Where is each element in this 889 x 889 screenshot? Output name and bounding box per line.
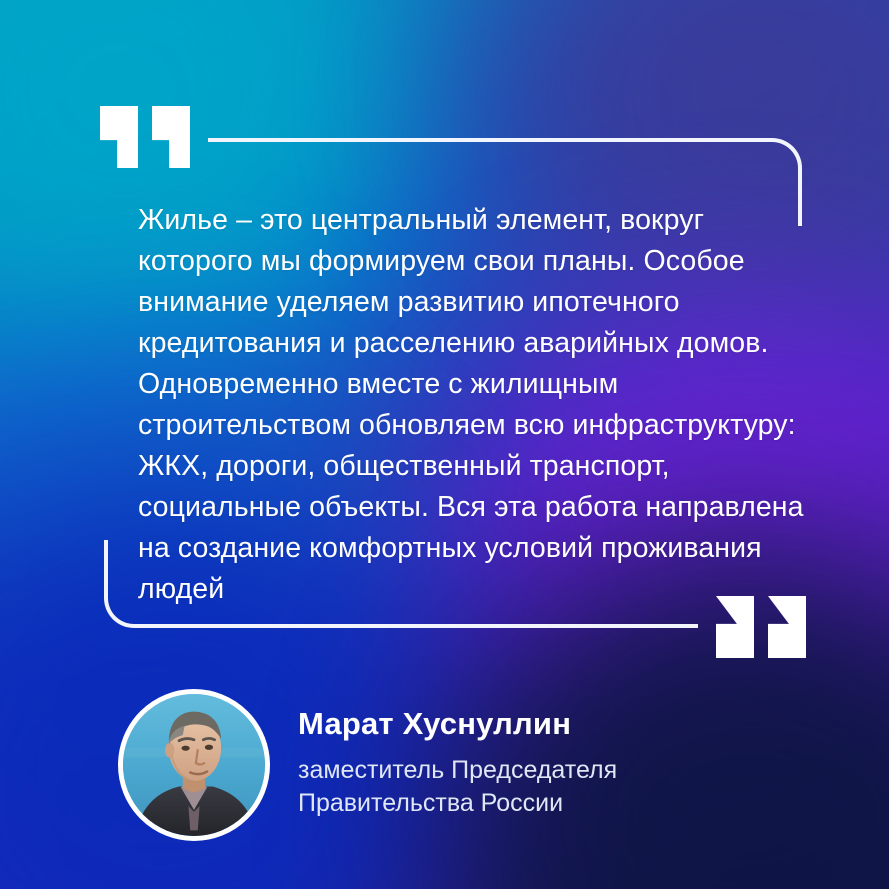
- quote-line: внимание уделяем развитию ипотечного: [138, 282, 818, 323]
- avatar: [118, 689, 270, 841]
- quote-card: Жилье – это центральный элемент, вокруг …: [0, 0, 889, 889]
- quote-line: строительством обновляем всю инфраструкт…: [138, 405, 818, 446]
- quote-line: ЖКХ, дороги, общественный транспорт,: [138, 446, 818, 487]
- open-quote-icon-left: [100, 106, 138, 168]
- avatar-photo: [123, 694, 265, 836]
- quote-line: Жилье – это центральный элемент, вокруг: [138, 200, 818, 241]
- speaker-role-line: Правительства России: [298, 787, 617, 820]
- speaker-role-line: заместитель Председателя: [298, 754, 617, 787]
- quote-line: кредитования и расселению аварийных домо…: [138, 323, 818, 364]
- speaker-role: заместитель Председателя Правительства Р…: [298, 754, 617, 820]
- open-quote-icon: [100, 106, 190, 168]
- quote-line: людей: [138, 569, 818, 610]
- quote-line: Одновременно вместе с жилищным: [138, 364, 818, 405]
- attribution: Марат Хуснуллин заместитель Председателя…: [118, 689, 617, 841]
- open-quote-icon-right: [152, 106, 190, 168]
- quote-text: Жилье – это центральный элемент, вокруг …: [138, 200, 818, 610]
- speaker-name: Марат Хуснуллин: [298, 706, 617, 743]
- quote-line: которого мы формируем свои планы. Особое: [138, 241, 818, 282]
- quote-line: социальные объекты. Вся эта работа напра…: [138, 487, 818, 528]
- attribution-text: Марат Хуснуллин заместитель Председателя…: [298, 706, 617, 825]
- quote-line: на создание комфортных условий проживани…: [138, 528, 818, 569]
